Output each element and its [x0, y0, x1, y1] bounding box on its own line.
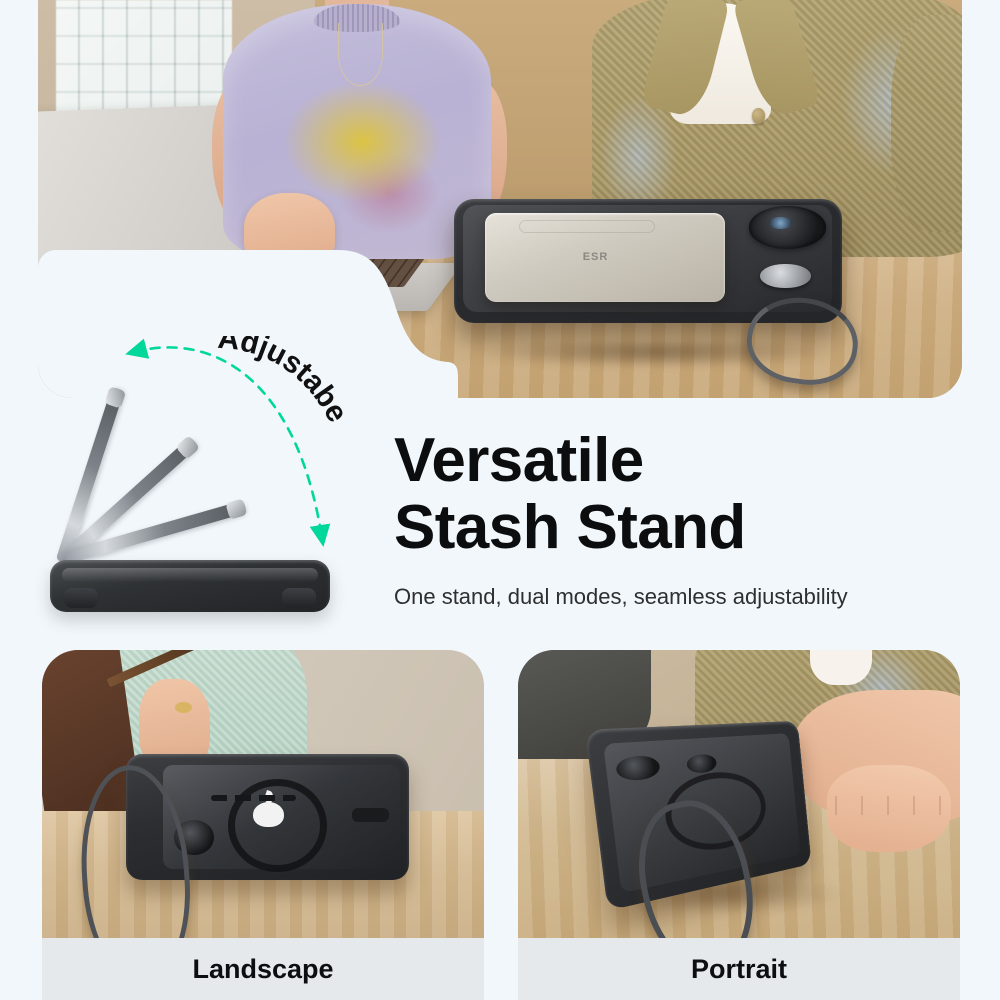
- power-bank-top-marking: [519, 220, 656, 233]
- landscape-mode-panel: Landscape: [42, 650, 484, 1000]
- cardigan-button: [752, 108, 765, 123]
- magnetic-power-bank: ESR: [485, 213, 726, 302]
- kickstand-hinge: [760, 264, 810, 289]
- middle-feature-section: Adjustabe Versatile Stash Stand One stan…: [0, 330, 1000, 630]
- portrait-photo: [518, 650, 960, 938]
- br-white-tee: [810, 650, 872, 685]
- br-fingers: [827, 765, 951, 851]
- person-left: [223, 0, 491, 287]
- portrait-caption-bar: Portrait: [518, 938, 960, 1000]
- landscape-caption-label: Landscape: [192, 954, 333, 985]
- landscape-caption-bar: Landscape: [42, 938, 484, 1000]
- headline-line-2: Stash Stand: [394, 493, 746, 562]
- person-right-arm: [891, 15, 962, 233]
- product-marketing-page: ESR: [0, 0, 1000, 1000]
- page-subtitle: One stand, dual modes, seamless adjustab…: [394, 584, 848, 610]
- camera-lens: [749, 206, 827, 248]
- stand-foot-right: [282, 588, 316, 608]
- page-title: Versatile Stash Stand: [394, 428, 746, 562]
- headline-line-1: Versatile: [394, 426, 644, 495]
- necklace: [338, 23, 383, 86]
- stand-foot-left: [64, 588, 98, 608]
- bl-side-buttons: [211, 795, 296, 800]
- landscape-photo: [42, 650, 484, 938]
- esr-logo: ESR: [583, 251, 609, 263]
- bl-stand-slot: [352, 808, 389, 822]
- svg-text:Adjustabe: Adjustabe: [216, 336, 354, 428]
- adjustable-label: Adjustabe: [205, 336, 395, 536]
- apple-logo: [253, 802, 284, 827]
- portrait-caption-label: Portrait: [691, 954, 787, 985]
- portrait-mode-panel: Portrait: [518, 650, 960, 1000]
